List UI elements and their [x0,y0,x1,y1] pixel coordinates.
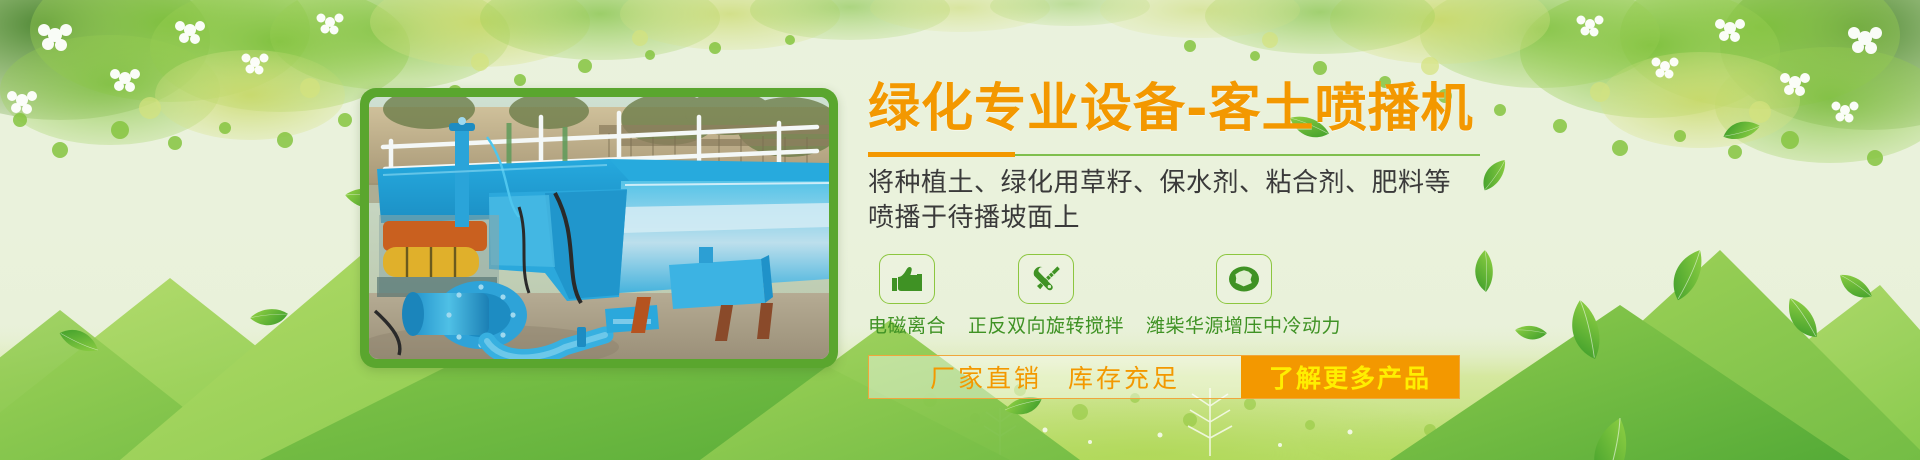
title-divider [868,151,1480,157]
divider-orange-segment [868,152,1015,157]
feature-label: 电磁离合 [868,311,946,338]
cta-slogan-left: 厂家直销 [930,359,1042,395]
subtitle: 将种植土、绿化用草籽、保水剂、粘合剂、肥料等 喷播于待播坡面上 [868,166,1568,235]
subtitle-line-2: 喷播于待播坡面上 [868,201,1568,235]
page-title: 绿化专业设备-客土喷播机 [868,80,1568,138]
learn-more-button[interactable]: 了解更多产品 [1241,356,1459,398]
tools-wrench-screwdriver-icon [1018,254,1074,304]
feature-item-electromagnetic-clutch[interactable]: 电磁离合 [868,254,946,338]
cta-slogan: 厂家直销 库存充足 [869,356,1241,398]
subtitle-line-1: 将种植土、绿化用草籽、保水剂、粘合剂、肥料等 [868,166,1568,200]
thumbs-up-icon [879,254,935,304]
product-photo-frame[interactable] [360,88,838,368]
feature-item-bidirectional-mixing[interactable]: 正反双向旋转搅拌 [968,254,1124,338]
divider-green-segment [1015,154,1480,156]
feature-list: 电磁离合 正反双向旋 [868,254,1568,338]
feature-item-weichai-power[interactable]: 潍柴华源增压中冷动力 [1146,254,1341,338]
cta-bar: 厂家直销 库存充足 了解更多产品 [868,355,1460,399]
promo-banner: 绿化专业设备-客土喷播机 将种植土、绿化用草籽、保水剂、粘合剂、肥料等 喷播于待… [0,0,1920,460]
cta-slogan-right: 库存充足 [1068,359,1180,395]
feature-label: 正反双向旋转搅拌 [968,311,1124,338]
gear-icon [1216,254,1272,304]
banner-content: 绿化专业设备-客土喷播机 将种植土、绿化用草籽、保水剂、粘合剂、肥料等 喷播于待… [868,80,1568,399]
feature-label: 潍柴华源增压中冷动力 [1146,311,1341,338]
product-photo [369,97,829,359]
